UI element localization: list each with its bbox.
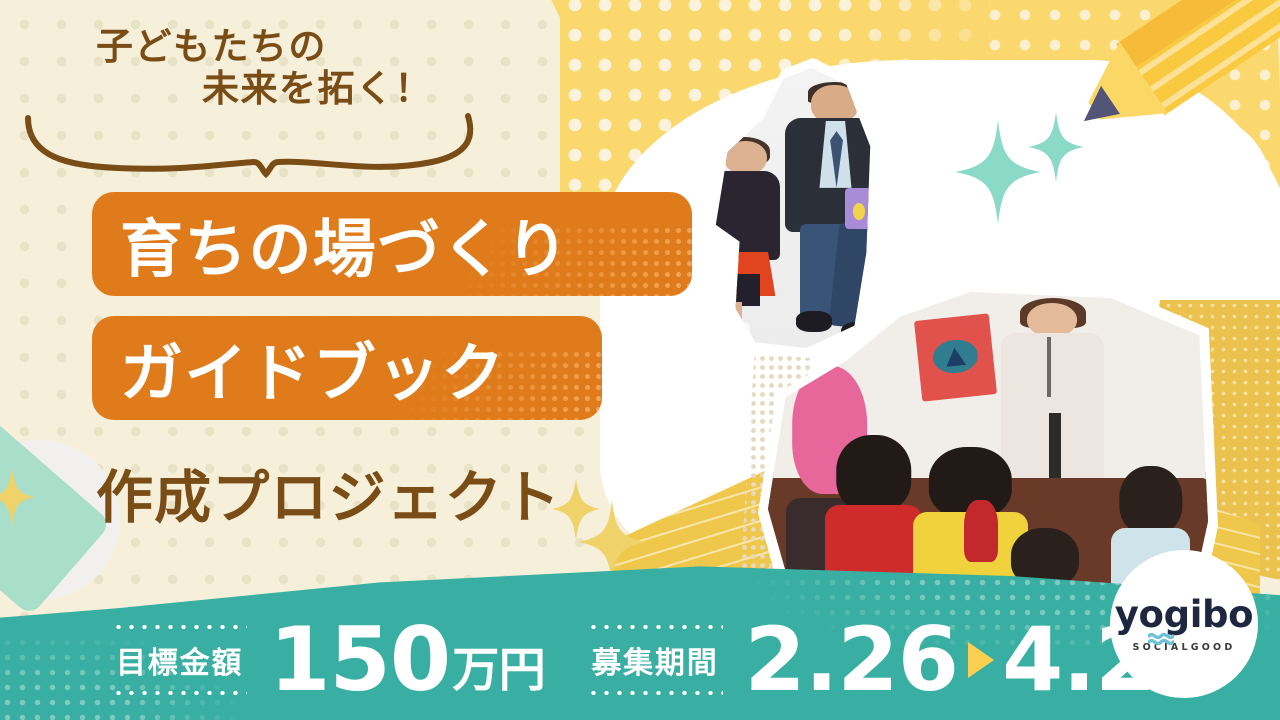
period-start-date: 2.26 — [745, 616, 959, 704]
band-content-row: 目標金額 150 万円 募集期間 2.26 4.2 — [0, 600, 1280, 720]
goal-amount-unit: 万円 — [452, 631, 545, 704]
campaign-period-label: 募集期間 — [587, 625, 722, 695]
yogibo-wordmark-text: yogibo — [1115, 593, 1253, 636]
goal-amount-label: 目標金額 — [112, 625, 247, 695]
title-line-3: 作成プロジェクト — [96, 452, 561, 534]
goal-amount-value: 150 — [269, 616, 450, 704]
kicker-line-1: 子どもたちの — [96, 25, 327, 68]
kicker-text: 子どもたちの 未来を拓く！ — [96, 26, 536, 110]
poster-canvas: 子どもたちの 未来を拓く！ 育ちの場づくり ガイドブック 作成プロジェクト 目標… — [0, 0, 1280, 720]
title-line-1: 育ちの場づくり — [120, 199, 570, 290]
kicker-line-2: 未来を拓く！ — [202, 68, 536, 110]
sparkle-icon-yellow-edge — [0, 468, 34, 526]
title-box-line-2: ガイドブック — [92, 316, 602, 420]
sparkle-icon-teal-small — [1028, 112, 1084, 182]
brace-underline — [22, 112, 492, 198]
title-line-2: ガイドブック — [120, 323, 506, 414]
yogibo-logo: yogibo SOCIALGOOD — [1110, 550, 1258, 698]
goal-amount-block: 目標金額 150 万円 — [112, 616, 545, 704]
yogibo-wordmark: yogibo — [1115, 596, 1253, 633]
arrow-right-icon — [968, 642, 994, 678]
yogibo-wave-icon — [1148, 614, 1174, 628]
campaign-period-block: 募集期間 2.26 4.2 — [587, 616, 1155, 704]
picture-book — [914, 313, 997, 401]
title-box-line-1: 育ちの場づくり — [92, 192, 692, 296]
